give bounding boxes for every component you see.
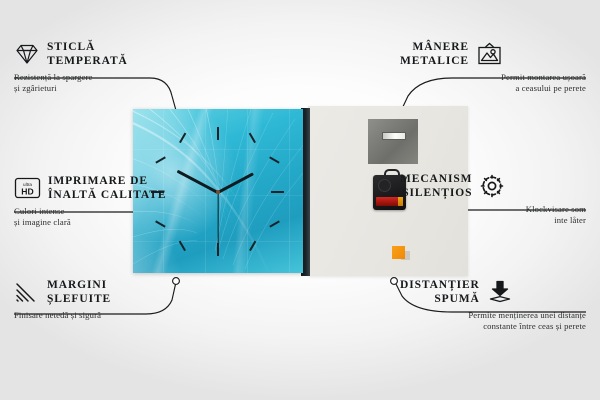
gear-icon (479, 174, 505, 198)
foam-spacer-piece (392, 246, 405, 259)
callout-high-quality-print: ultra HD IMPRIMARE DE ÎNALTĂ CALITATE Cu… (14, 174, 204, 229)
mechanism-dial (378, 179, 391, 192)
callout-title: MARGINI ȘLEFUITE (47, 278, 111, 306)
callout-title: DISTANȚIER SPUMĂ (400, 278, 480, 306)
callout-title: MECANISM SILENȚIOS (400, 172, 472, 200)
callout-subtitle: Rezistență la spargere și zgârieturi (14, 72, 204, 95)
callout-metal-handles: MÂNERE METALICE Permit montarea ușoară a… (400, 40, 586, 95)
clock-tick-12 (217, 127, 219, 140)
callout-title: STICLĂ TEMPERATĂ (47, 40, 128, 68)
callout-foam-spacer: DISTANȚIER SPUMĂ Permite menținerea unei… (400, 278, 586, 333)
clock-tick-3 (271, 191, 284, 193)
svg-text:HD: HD (21, 186, 33, 196)
callout-title: MÂNERE METALICE (400, 40, 469, 68)
hanger-slot (382, 132, 406, 140)
clock-tick-6 (217, 243, 219, 256)
infographic-canvas: STICLĂ TEMPERATĂ Rezistență la spargere … (0, 0, 600, 400)
callout-polished-edges: MARGINI ȘLEFUITE Finisare netedă și sigu… (14, 278, 204, 321)
picture-hanger-icon (476, 42, 503, 66)
metal-hanger-plate (368, 119, 418, 164)
callout-subtitle: Permit montarea ușoară a ceasului pe per… (400, 72, 586, 95)
callout-subtitle: Finisare netedă și sigură (14, 310, 204, 321)
callout-subtitle: Culori intense și imagine clară (14, 206, 204, 229)
callout-subtitle: Klockvisare som inte låter (400, 204, 586, 227)
down-arrow-stack-icon (487, 280, 513, 304)
polished-edges-icon (14, 281, 40, 303)
callout-title: IMPRIMARE DE ÎNALTĂ CALITATE (48, 174, 166, 202)
clock-center-hub (216, 190, 220, 194)
callout-tempered-glass: STICLĂ TEMPERATĂ Rezistență la spargere … (14, 40, 204, 95)
diamond-icon (14, 43, 40, 65)
connector-dot-foam-spacer (391, 278, 398, 285)
clock-second-hand (217, 193, 218, 245)
callout-silent-mechanism: MECANISM SILENȚIOS Klockvisare som inte … (400, 172, 586, 227)
ultra-hd-icon: ultra HD (14, 177, 41, 199)
callout-subtitle: Permite menținerea unei distanțe constan… (400, 310, 586, 333)
